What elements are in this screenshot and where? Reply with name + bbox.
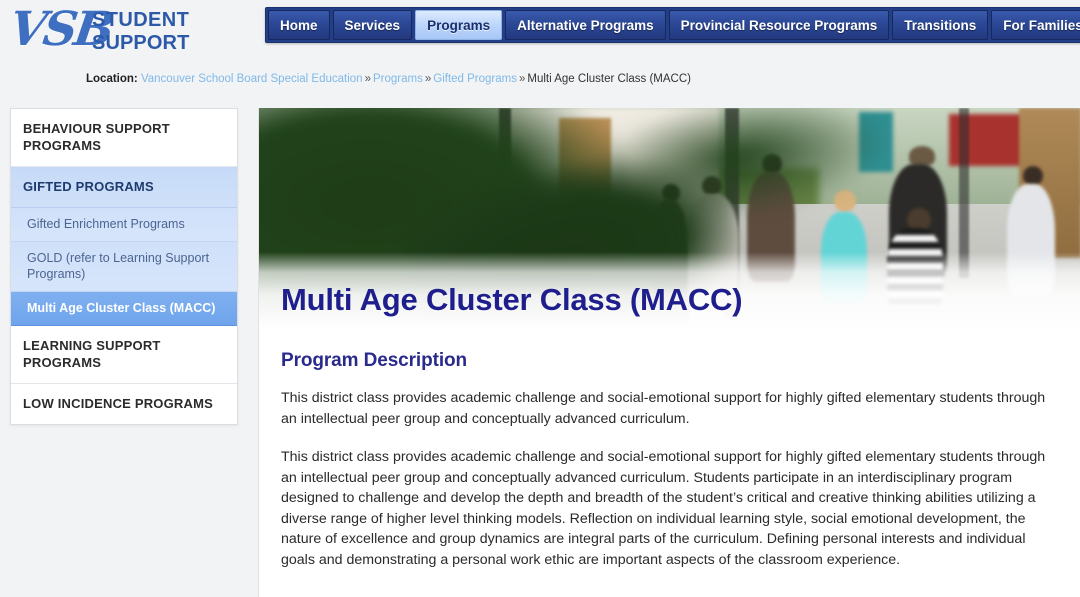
logo-line-2: SUPPORT xyxy=(92,32,189,55)
article-body: Program Description This district class … xyxy=(259,330,1080,570)
nav-item-for-families[interactable]: For Families xyxy=(991,10,1080,40)
page-root: VSB STUDENT SUPPORT HomeServicesPrograms… xyxy=(0,0,1080,597)
paragraph-list: This district class provides academic ch… xyxy=(281,388,1058,570)
breadcrumb-separator: » xyxy=(423,73,433,85)
sidebar-item-gold-refer-to-learning-support-programs[interactable]: GOLD (refer to Learning Support Programs… xyxy=(11,242,237,292)
breadcrumb-link[interactable]: Vancouver School Board Special Education xyxy=(141,73,363,85)
page-title: Multi Age Cluster Class (MACC) xyxy=(281,282,742,318)
main-content: Multi Age Cluster Class (MACC) Program D… xyxy=(258,108,1080,597)
breadcrumb-link[interactable]: Gifted Programs xyxy=(433,73,517,85)
sidebar-item-gifted-programs[interactable]: GIFTED PROGRAMS xyxy=(11,167,237,208)
nav-item-programs[interactable]: Programs xyxy=(415,10,502,40)
nav-item-services[interactable]: Services xyxy=(333,10,413,40)
sidebar-item-learning-support-programs[interactable]: LEARNING SUPPORT PROGRAMS xyxy=(11,326,237,384)
site-logo[interactable]: VSB STUDENT SUPPORT xyxy=(8,2,258,60)
nav-item-provincial-resource-programs[interactable]: Provincial Resource Programs xyxy=(669,10,890,40)
main-navigation: HomeServicesProgramsAlternative Programs… xyxy=(265,7,1080,43)
sidebar-item-multi-age-cluster-class-macc[interactable]: Multi Age Cluster Class (MACC) xyxy=(11,292,237,326)
site-header: VSB STUDENT SUPPORT HomeServicesPrograms… xyxy=(0,0,1080,62)
breadcrumb-current: Multi Age Cluster Class (MACC) xyxy=(527,73,691,85)
sidebar-item-low-incidence-programs[interactable]: LOW INCIDENCE PROGRAMS xyxy=(11,384,237,424)
sidebar-navigation: BEHAVIOUR SUPPORT PROGRAMSGIFTED PROGRAM… xyxy=(10,108,238,425)
nav-item-home[interactable]: Home xyxy=(268,10,330,40)
section-heading: Program Description xyxy=(281,350,1058,372)
logo-line-1: STUDENT xyxy=(92,9,189,32)
breadcrumb: Location: Vancouver School Board Special… xyxy=(86,73,691,85)
sidebar-item-behaviour-support-programs[interactable]: BEHAVIOUR SUPPORT PROGRAMS xyxy=(11,109,237,167)
nav-item-transitions[interactable]: Transitions xyxy=(892,10,988,40)
breadcrumb-label: Location: xyxy=(86,73,138,85)
body-paragraph: This district class provides academic ch… xyxy=(281,388,1058,429)
breadcrumb-separator: » xyxy=(517,73,527,85)
nav-item-alternative-programs[interactable]: Alternative Programs xyxy=(505,10,666,40)
breadcrumb-items: Vancouver School Board Special Education… xyxy=(141,73,691,85)
hero-banner: Multi Age Cluster Class (MACC) xyxy=(259,108,1080,330)
sidebar-item-gifted-enrichment-programs[interactable]: Gifted Enrichment Programs xyxy=(11,208,237,242)
body-paragraph: This district class provides academic ch… xyxy=(281,447,1058,570)
logo-wordmark: STUDENT SUPPORT xyxy=(92,9,189,55)
breadcrumb-link[interactable]: Programs xyxy=(373,73,423,85)
breadcrumb-separator: » xyxy=(363,73,373,85)
